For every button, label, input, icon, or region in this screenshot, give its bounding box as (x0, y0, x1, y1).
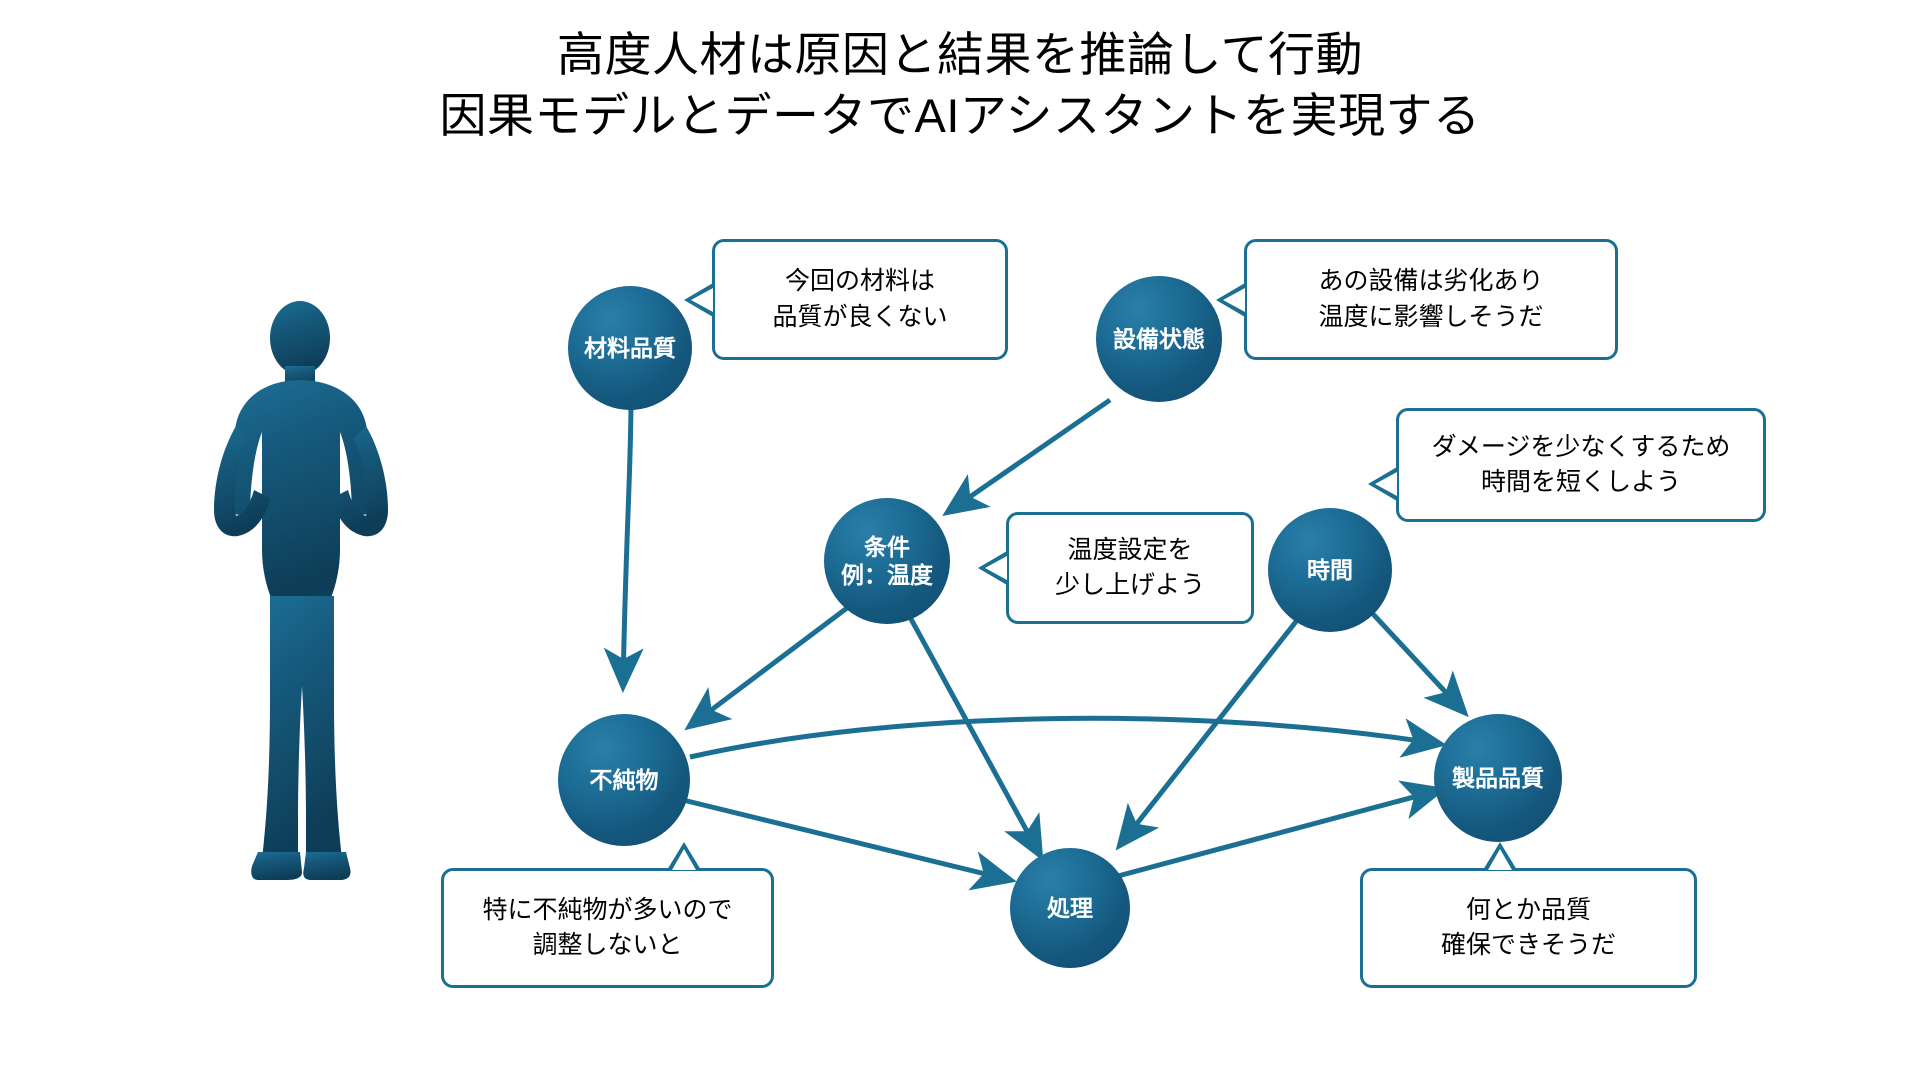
bubble-impurity-line-1: 特に不純物が多いので (482, 893, 732, 929)
node-condition-label-1: 条件 (864, 533, 910, 561)
node-impurity[interactable]: 不純物 (558, 714, 690, 846)
bubble-condition[interactable]: 温度設定を 少し上げよう (1006, 512, 1254, 624)
edge-time-to-product-quality (1360, 600, 1464, 712)
node-time[interactable]: 時間 (1268, 508, 1392, 632)
bubble-product-quality[interactable]: 何とか品質 確保できそうだ (1360, 868, 1697, 988)
edge-process-to-product-quality (1118, 790, 1440, 876)
bubble-condition-line-1: 温度設定を (1067, 533, 1192, 569)
bubble-product-quality-line-1: 何とか品質 (1466, 893, 1591, 929)
bubble-time-line-2: 時間を短くしよう (1481, 465, 1681, 501)
bubble-impurity[interactable]: 特に不純物が多いので 調整しないと (441, 868, 774, 988)
edge-equipment-state-to-condition (948, 400, 1110, 512)
bubble-product-quality-line-2: 確保できそうだ (1441, 928, 1616, 964)
bubble-impurity-line-2: 調整しないと (532, 928, 682, 964)
bubble-material-quality-line-1: 今回の材料は (785, 264, 935, 300)
node-impurity-label: 不純物 (590, 766, 659, 794)
bubble-equipment-state-line-1: あの設備は劣化あり (1318, 264, 1543, 300)
node-material-quality-label: 材料品質 (584, 334, 676, 362)
node-time-label: 時間 (1307, 556, 1353, 584)
node-product-quality[interactable]: 製品品質 (1434, 714, 1562, 842)
bubble-material-quality-line-2: 品質が良くない (772, 300, 947, 336)
bubble-tail-inner-impurity (672, 849, 696, 870)
bubble-tail-inner-material-quality (691, 288, 713, 312)
bubble-condition-line-2: 少し上げよう (1055, 568, 1205, 604)
bubble-tail-inner-time (1375, 472, 1397, 496)
bubble-tail-inner-product-quality (1488, 849, 1512, 870)
edge-condition-to-impurity (690, 602, 855, 726)
bubble-time-line-1: ダメージを少なくするため (1432, 430, 1731, 466)
node-product-quality-label: 製品品質 (1452, 764, 1544, 792)
bubble-equipment-state-line-2: 温度に影響しそうだ (1318, 300, 1543, 336)
bubble-tail-inner-condition (985, 556, 1007, 580)
node-material-quality[interactable]: 材料品質 (568, 286, 692, 410)
node-condition-label-2: 例：温度 (841, 561, 933, 589)
node-process-label: 処理 (1047, 894, 1093, 922)
bubble-tail-inner-equipment-state (1223, 288, 1245, 312)
edge-material-quality-to-impurity (623, 398, 631, 686)
node-equipment-state[interactable]: 設備状態 (1096, 276, 1222, 402)
slide-canvas: 高度人材は原因と結果を推論して行動 因果モデルとデータでAIアシスタントを実現す… (0, 0, 1920, 1080)
bubble-time[interactable]: ダメージを少なくするため 時間を短くしよう (1396, 408, 1766, 522)
bubble-equipment-state[interactable]: あの設備は劣化あり 温度に影響しそうだ (1244, 239, 1618, 360)
node-equipment-state-label: 設備状態 (1113, 325, 1205, 353)
edge-impurity-to-product-quality (690, 718, 1440, 757)
node-condition[interactable]: 条件 例：温度 (824, 498, 950, 624)
bubble-material-quality[interactable]: 今回の材料は 品質が良くない (712, 239, 1008, 360)
node-process[interactable]: 処理 (1010, 848, 1130, 968)
edge-condition-to-process (905, 608, 1040, 855)
